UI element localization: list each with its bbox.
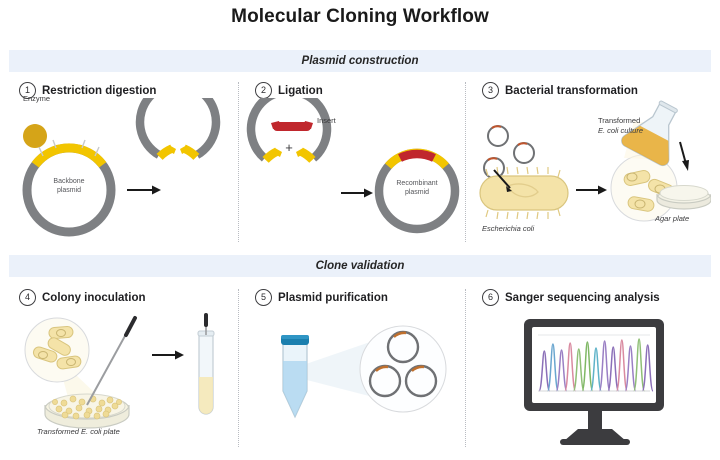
free-plasmids	[484, 126, 534, 178]
enzyme-icon	[23, 124, 59, 148]
agar-plate-label: Agar plate	[655, 214, 689, 223]
step-panel-sanger-sequencing-analysis: 6 Sanger sequencing analysis	[472, 285, 711, 453]
step-number-badge: 6	[482, 289, 499, 306]
step-title: Restriction digestion	[42, 85, 156, 97]
step-header: 5 Plasmid purification	[255, 289, 388, 306]
step-title: Bacterial transformation	[505, 85, 638, 97]
recombinant-plasmid-label-line1: Recombinant	[387, 180, 447, 189]
process-arrow-icon	[127, 186, 161, 195]
restriction-digestion-svg	[9, 98, 235, 248]
step-number-badge: 4	[19, 289, 36, 306]
section-banner-label: Plasmid construction	[302, 55, 419, 67]
step-number-badge: 5	[255, 289, 272, 306]
panel-divider	[238, 82, 239, 242]
ecoli-cell	[480, 167, 568, 219]
transformed-plate-label: Transformed E. coli plate	[37, 427, 120, 436]
plasmid-purification-illustration	[245, 305, 463, 455]
agar-plate	[657, 186, 711, 209]
colony-inoculation-illustration: Transformed E. coli plate	[9, 305, 235, 455]
backbone-plasmid-label-line1: Backbone	[39, 178, 99, 187]
step-panel-restriction-digestion: 1 Restriction digestion	[9, 78, 235, 248]
step-panel-bacterial-transformation: 3 Bacterial transformation	[472, 78, 711, 248]
panel-divider	[465, 82, 466, 242]
ecoli-label: Escherichia coli	[482, 224, 534, 233]
page-title: Molecular Cloning Workflow	[0, 6, 720, 28]
step-header: 2 Ligation	[255, 82, 323, 99]
restriction-digestion-illustration: Enzyme Backbone plasmid	[9, 98, 235, 248]
culture-tube	[198, 315, 214, 414]
enzyme-label: Enzyme	[23, 94, 50, 103]
insert-fragment	[271, 121, 313, 131]
section-banner-clone-validation: Clone validation	[9, 255, 711, 277]
process-arrow-icon	[341, 189, 373, 198]
plasmid-construction-panels: 1 Restriction digestion	[9, 78, 711, 248]
step-header: 4 Colony inoculation	[19, 289, 146, 306]
ligation-illustration: +	[245, 98, 463, 248]
step-number-badge: 2	[255, 82, 272, 99]
step-title: Plasmid purification	[278, 292, 388, 304]
transformed-culture-label-line2: E. coli culture	[598, 126, 643, 136]
step-number-badge: 3	[482, 82, 499, 99]
step-panel-ligation: 2 Ligation +	[245, 78, 463, 248]
step-header: 6 Sanger sequencing analysis	[482, 289, 660, 306]
bacterial-transformation-illustration: Transformed E. coli culture Escherichia …	[472, 98, 711, 248]
streak-arrow-icon	[680, 142, 689, 171]
inoculation-needle	[87, 318, 135, 405]
sanger-monitor-svg	[472, 305, 711, 455]
step-title: Colony inoculation	[42, 292, 146, 304]
step-title: Sanger sequencing analysis	[505, 292, 660, 304]
purified-plasmid-magnifier	[360, 326, 446, 412]
step-panel-colony-inoculation: 4 Colony inoculation	[9, 285, 235, 453]
step-title: Ligation	[278, 85, 323, 97]
sanger-sequencing-illustration	[472, 305, 711, 455]
transformed-culture-label-line1: Transformed	[598, 116, 640, 126]
clone-validation-panels: 4 Colony inoculation	[9, 285, 711, 453]
section-banner-plasmid-construction: Plasmid construction	[9, 50, 711, 72]
backbone-plasmid-label-line2: plasmid	[39, 187, 99, 196]
ligation-svg: +	[245, 98, 463, 248]
digested-plasmid	[140, 98, 216, 157]
colony-magnifier	[25, 318, 95, 401]
plasmid-purification-svg	[245, 305, 463, 455]
diagram-canvas: Molecular Cloning Workflow Plasmid const…	[0, 0, 720, 457]
process-arrow-icon	[576, 186, 607, 195]
plus-sign: +	[285, 140, 293, 155]
section-banner-label: Clone validation	[316, 260, 405, 272]
insert-label: Insert	[317, 116, 336, 125]
panel-divider	[465, 289, 466, 447]
recombinant-plasmid-label-line2: plasmid	[387, 189, 447, 198]
step-header: 3 Bacterial transformation	[482, 82, 638, 99]
process-arrow-icon	[152, 351, 184, 360]
microcentrifuge-tube	[281, 335, 309, 417]
panel-divider	[238, 289, 239, 447]
step-panel-plasmid-purification: 5 Plasmid purification	[245, 285, 463, 453]
transformed-ecoli-plate	[45, 394, 129, 428]
